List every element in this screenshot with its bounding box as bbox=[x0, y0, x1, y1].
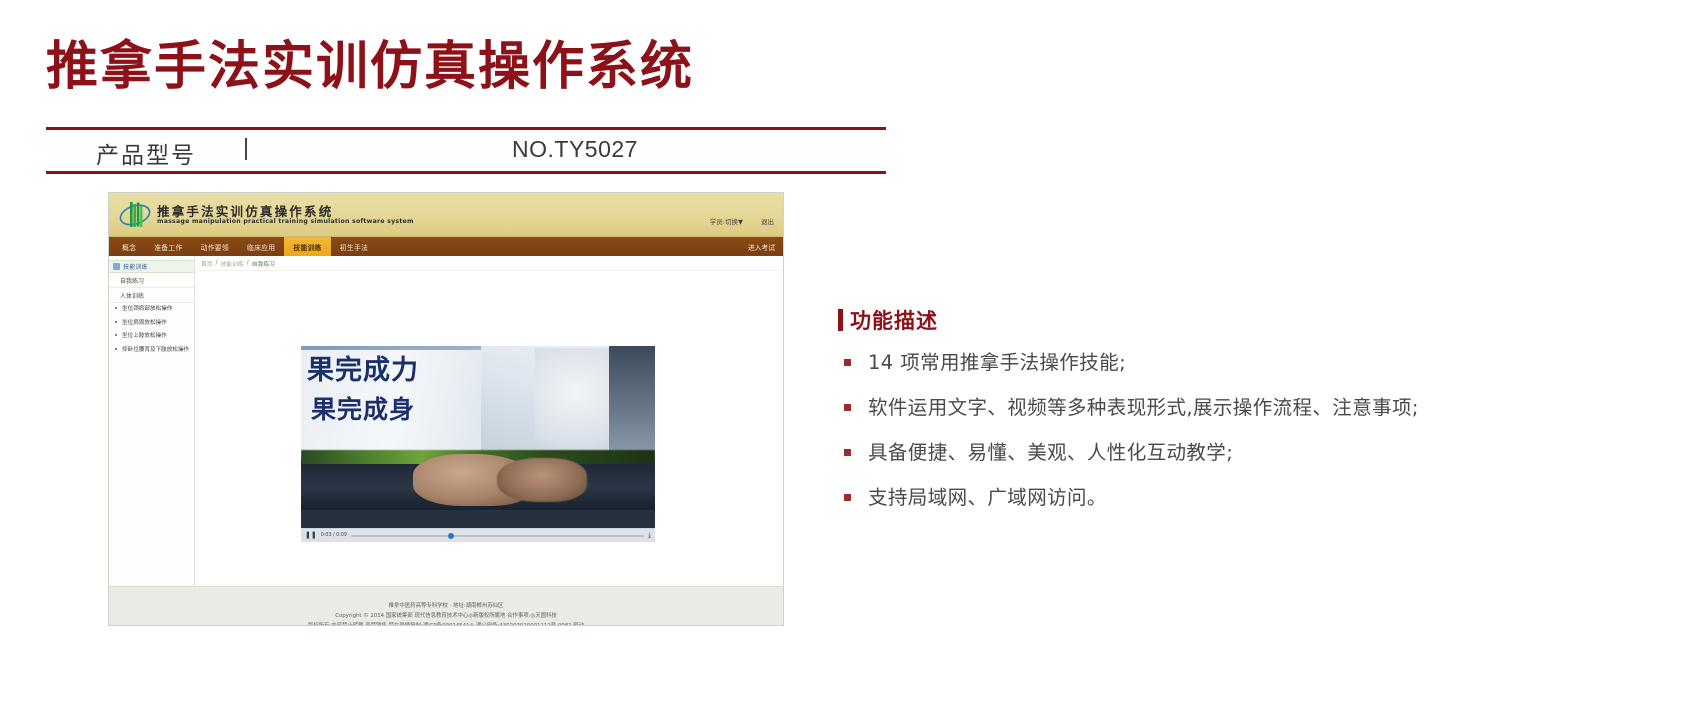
pause-icon[interactable]: ❚❚ bbox=[305, 532, 317, 539]
app-content: 首页 / 技能训练 / 自我练习 果完成力 果完成身 bbox=[195, 256, 783, 586]
app-sidebar: 技能训练 自我练习 人体训练 坐位颈肩部放松操作 坐位肩周放松操作 坐位上肢放松… bbox=[109, 256, 195, 586]
sidebar-item-self-practice[interactable]: 自我练习 bbox=[109, 273, 194, 288]
model-separator: | bbox=[243, 134, 249, 161]
video-player[interactable]: 果完成力 果完成身 ❚❚ 0:03 / 0:09 ⤓ bbox=[301, 346, 655, 542]
nav-item-clinical[interactable]: 临床应用 bbox=[238, 237, 284, 256]
app-title-en: massage manipulation practical training … bbox=[157, 218, 414, 225]
video-caption-line2: 果完成身 bbox=[311, 390, 415, 426]
list-item: 软件运用文字、视频等多种表现形式,展示操作流程、注意事项; bbox=[838, 392, 1538, 424]
nav-item-preparation[interactable]: 准备工作 bbox=[145, 237, 191, 256]
video-hand-right bbox=[497, 458, 587, 502]
footer-line-1: 推拿中医药高等专科学校 · 地址:湖南郴州苏仙区 bbox=[109, 601, 783, 611]
slide-page: 推拿手法实训仿真操作系统 产品型号 | NO.TY5027 推拿手法实训仿真操作… bbox=[0, 0, 1700, 714]
feature-list: 14 项常用推拿手法操作技能; 软件运用文字、视频等多种表现形式,展示操作流程、… bbox=[838, 347, 1538, 514]
app-logo-icon bbox=[118, 199, 152, 231]
sidebar-subitem-4[interactable]: 仰卧位腰背及下肢放松操作 bbox=[109, 344, 194, 358]
nav-enter-exam[interactable]: 进入考试 bbox=[740, 237, 783, 256]
sidebar-subitem-2[interactable]: 坐位肩周放松操作 bbox=[109, 317, 194, 331]
app-body: 技能训练 自我练习 人体训练 坐位颈肩部放松操作 坐位肩周放松操作 坐位上肢放松… bbox=[109, 256, 783, 586]
sidebar-header-label: 技能训练 bbox=[123, 262, 148, 271]
footer-line-3: 版权所有 内容禁止转载 严禁销售 禁在景擅复制:湘ICP备09024541◎ 湘… bbox=[109, 621, 783, 626]
sidebar-subitem-3[interactable]: 坐位上肢放松操作 bbox=[109, 330, 194, 344]
breadcrumb-section[interactable]: 技能训练 bbox=[221, 259, 244, 268]
app-footer: 推拿中医药高等专科学校 · 地址:湖南郴州苏仙区 Copyright © 201… bbox=[109, 586, 783, 626]
sidebar-item-body-training[interactable]: 人体训练 bbox=[109, 288, 194, 303]
footer-line-2: Copyright © 2014 国家统筹部 现代信息教育技术中心◎新版权所属地… bbox=[109, 611, 783, 621]
app-screenshot: 推拿手法实训仿真操作系统 massage manipulation practi… bbox=[108, 192, 784, 626]
sidebar-subitem-1[interactable]: 坐位颈肩部放松操作 bbox=[109, 303, 194, 317]
video-edge-shadow bbox=[609, 346, 655, 458]
description-panel: 功能描述 14 项常用推拿手法操作技能; 软件运用文字、视频等多种表现形式,展示… bbox=[838, 305, 1538, 527]
model-divider-top bbox=[46, 127, 886, 130]
app-header: 推拿手法实训仿真操作系统 massage manipulation practi… bbox=[109, 193, 783, 237]
video-controls[interactable]: ❚❚ 0:03 / 0:09 ⤓ bbox=[301, 528, 655, 542]
description-header: 功能描述 bbox=[838, 305, 1538, 335]
breadcrumb: 首页 / 技能训练 / 自我练习 bbox=[195, 256, 783, 271]
download-icon[interactable]: ⤓ bbox=[648, 532, 651, 539]
nav-item-concept[interactable]: 概念 bbox=[113, 237, 145, 256]
sidebar-header[interactable]: 技能训练 bbox=[109, 260, 194, 273]
model-label: 产品型号 bbox=[96, 136, 196, 170]
video-progress-slider[interactable] bbox=[351, 535, 644, 537]
video-progress-knob[interactable] bbox=[448, 533, 454, 539]
breadcrumb-home[interactable]: 首页 bbox=[201, 259, 213, 268]
description-title: 功能描述 bbox=[850, 305, 938, 335]
user-switch-link[interactable]: 学员:切换▼ bbox=[710, 216, 743, 226]
list-item: 14 项常用推拿手法操作技能; bbox=[838, 347, 1538, 379]
app-navbar: 概念 准备工作 动作要领 临床应用 技能训练 初生手法 进入考试 bbox=[109, 237, 783, 256]
breadcrumb-sep-1: / bbox=[216, 260, 218, 266]
list-item: 支持局域网、广域网访问。 bbox=[838, 482, 1538, 514]
breadcrumb-sep-2: / bbox=[247, 260, 249, 266]
logout-link[interactable]: 退出 bbox=[761, 216, 774, 226]
breadcrumb-current: 自我练习 bbox=[252, 259, 275, 268]
model-divider-bottom bbox=[46, 171, 886, 174]
video-caption-line1: 果完成力 bbox=[307, 348, 419, 387]
monitor-icon bbox=[113, 263, 120, 270]
model-number: NO.TY5027 bbox=[512, 136, 638, 163]
nav-item-pediatric[interactable]: 初生手法 bbox=[331, 237, 377, 256]
list-item: 具备便捷、易懂、美观、人性化互动教学; bbox=[838, 437, 1538, 469]
accent-bar bbox=[838, 309, 843, 331]
video-time-label: 0:03 / 0:09 bbox=[321, 533, 347, 538]
nav-item-skill-training[interactable]: 技能训练 bbox=[284, 237, 330, 256]
nav-item-technique[interactable]: 动作要领 bbox=[192, 237, 238, 256]
page-title: 推拿手法实训仿真操作系统 bbox=[46, 24, 694, 99]
